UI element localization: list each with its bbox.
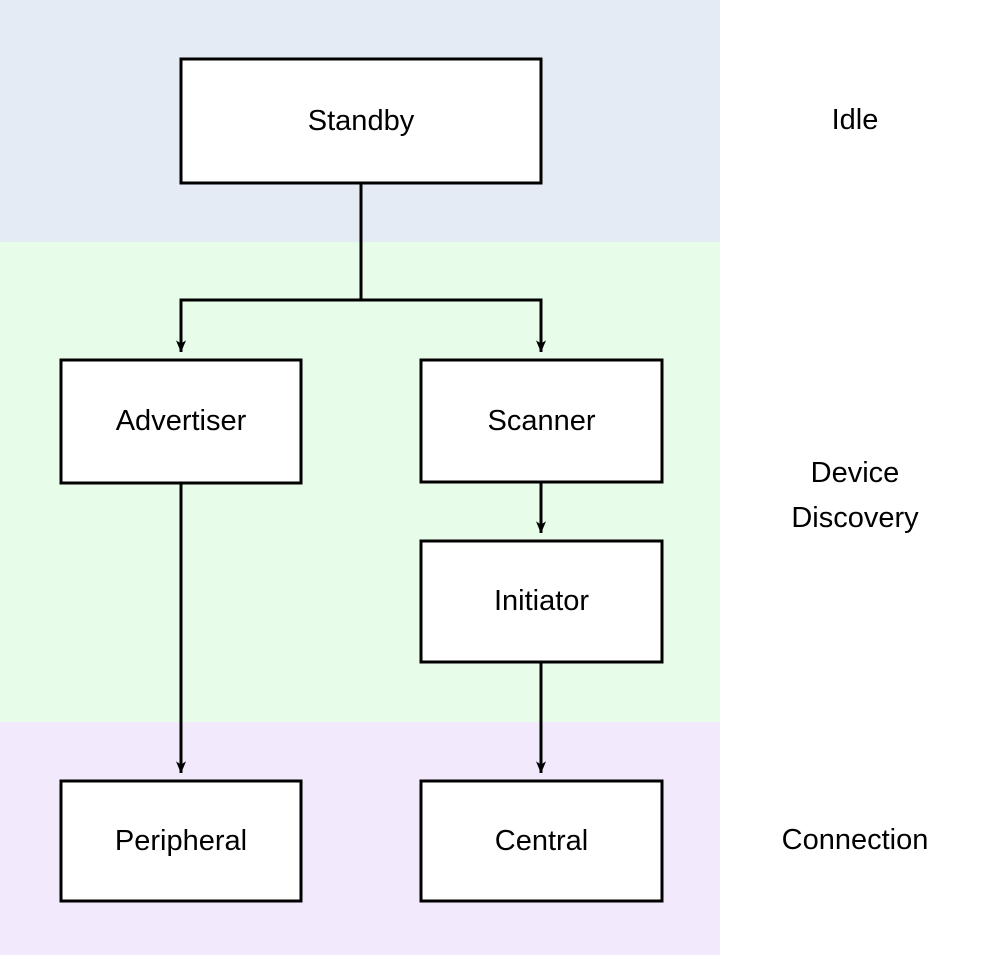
node-advertiser[interactable] (61, 360, 301, 483)
band-label-idle: Idle (705, 98, 990, 143)
node-scanner[interactable] (421, 360, 662, 482)
band-label-device-discovery: Device Discovery (705, 451, 990, 541)
node-initiator[interactable] (421, 541, 662, 662)
node-peripheral[interactable] (61, 781, 301, 901)
node-standby[interactable] (181, 59, 541, 183)
node-central[interactable] (421, 781, 662, 901)
diagram-canvas: StandbyAdvertiserScannerInitiatorPeriphe… (0, 0, 990, 960)
band-label-connection: Connection (705, 818, 990, 863)
